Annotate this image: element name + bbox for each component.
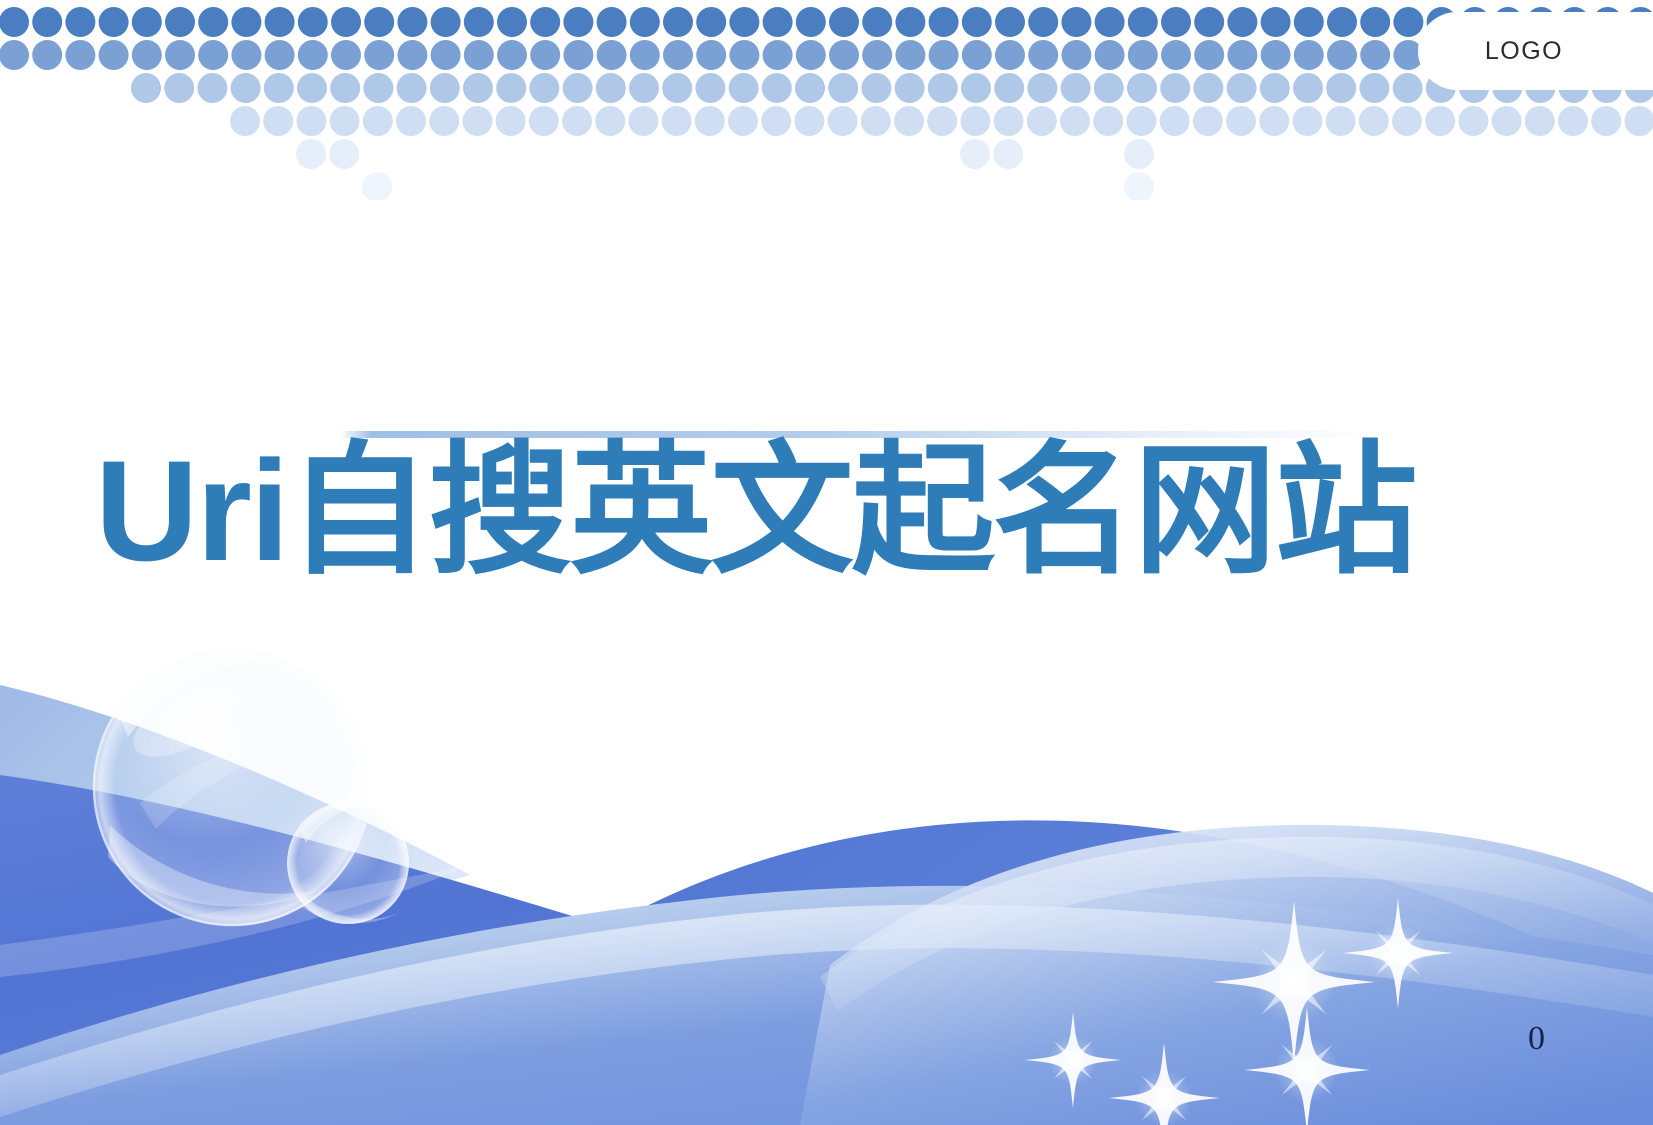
halftone-dot bbox=[763, 40, 793, 70]
halftone-dot bbox=[1292, 106, 1322, 136]
halftone-dot bbox=[164, 73, 194, 103]
halftone-dot bbox=[231, 7, 261, 37]
halftone-dot bbox=[363, 73, 393, 103]
halftone-dot bbox=[995, 40, 1025, 70]
halftone-dot bbox=[961, 73, 991, 103]
halftone-dot bbox=[1194, 40, 1224, 70]
halftone-dot bbox=[530, 7, 560, 37]
halftone-dot bbox=[729, 73, 759, 103]
halftone-dot bbox=[927, 106, 957, 136]
halftone-dot bbox=[628, 106, 658, 136]
halftone-dot bbox=[231, 73, 261, 103]
halftone-dot bbox=[1061, 73, 1091, 103]
halftone-dot bbox=[1061, 7, 1091, 37]
halftone-dot bbox=[1094, 73, 1124, 103]
halftone-dot bbox=[131, 73, 161, 103]
halftone-dot bbox=[795, 73, 825, 103]
halftone-dot bbox=[1425, 106, 1455, 136]
halftone-dot bbox=[331, 7, 361, 37]
halftone-dot bbox=[1124, 139, 1154, 169]
halftone-dot bbox=[431, 7, 461, 37]
halftone-dot bbox=[794, 106, 824, 136]
halftone-dot bbox=[32, 7, 62, 37]
halftone-dot bbox=[65, 7, 95, 37]
halftone-dot bbox=[1028, 7, 1058, 37]
halftone-dot bbox=[397, 7, 427, 37]
halftone-dot bbox=[828, 106, 858, 136]
halftone-dot bbox=[1359, 73, 1389, 103]
halftone-dot bbox=[596, 73, 626, 103]
halftone-dot bbox=[994, 106, 1024, 136]
halftone-dot bbox=[630, 7, 660, 37]
halftone-dot bbox=[762, 73, 792, 103]
halftone-dot bbox=[1492, 106, 1522, 136]
halftone-dot bbox=[197, 73, 227, 103]
halftone-dot bbox=[662, 73, 692, 103]
halftone-dot bbox=[1095, 40, 1125, 70]
halftone-dot bbox=[497, 7, 527, 37]
halftone-dot bbox=[729, 40, 759, 70]
halftone-dot bbox=[861, 73, 891, 103]
logo-plaque[interactable]: LOGO bbox=[1418, 12, 1653, 90]
halftone-dot bbox=[962, 40, 992, 70]
halftone-dot bbox=[198, 40, 228, 70]
halftone-dot bbox=[296, 106, 326, 136]
halftone-dot bbox=[462, 106, 492, 136]
halftone-dot bbox=[1327, 40, 1357, 70]
halftone-dot bbox=[960, 106, 990, 136]
halftone-dot bbox=[828, 73, 858, 103]
halftone-dot bbox=[763, 7, 793, 37]
halftone-dot bbox=[363, 106, 393, 136]
halftone-dot bbox=[1294, 40, 1324, 70]
halftone-dot bbox=[663, 40, 693, 70]
halftone-dot bbox=[1128, 40, 1158, 70]
halftone-dot bbox=[595, 106, 625, 136]
halftone-dot bbox=[1360, 7, 1390, 37]
page-title: Uri自搜英文起名网站 bbox=[95, 440, 1416, 583]
halftone-dot bbox=[597, 7, 627, 37]
halftone-dot bbox=[1393, 73, 1423, 103]
halftone-dot bbox=[1160, 106, 1190, 136]
logo-label: LOGO bbox=[1485, 37, 1591, 66]
halftone-dot bbox=[1326, 106, 1356, 136]
halftone-dot bbox=[796, 40, 826, 70]
halftone-dot bbox=[497, 40, 527, 70]
halftone-dot bbox=[429, 106, 459, 136]
halftone-dot bbox=[1095, 7, 1125, 37]
halftone-dot bbox=[629, 73, 659, 103]
halftone-dot bbox=[397, 40, 427, 70]
halftone-dot bbox=[929, 7, 959, 37]
halftone-dot bbox=[397, 73, 427, 103]
halftone-dot bbox=[729, 7, 759, 37]
page-number: 0 bbox=[1528, 1020, 1545, 1058]
halftone-dot bbox=[728, 106, 758, 136]
halftone-dot bbox=[696, 7, 726, 37]
halftone-dot bbox=[330, 73, 360, 103]
halftone-dot bbox=[862, 40, 892, 70]
halftone-dot bbox=[297, 73, 327, 103]
halftone-dot bbox=[597, 40, 627, 70]
halftone-dot bbox=[1060, 106, 1090, 136]
halftone-dot bbox=[1127, 73, 1157, 103]
halftone-dot bbox=[464, 7, 494, 37]
halftone-dot bbox=[662, 106, 692, 136]
halftone-dot bbox=[563, 73, 593, 103]
halftone-dot bbox=[1226, 106, 1256, 136]
halftone-dot bbox=[1126, 106, 1156, 136]
halftone-dot bbox=[298, 40, 328, 70]
halftone-dot bbox=[496, 73, 526, 103]
halftone-dot bbox=[396, 106, 426, 136]
halftone-dot bbox=[296, 139, 326, 169]
halftone-dot bbox=[1294, 7, 1324, 37]
halftone-dot bbox=[265, 40, 295, 70]
halftone-dot bbox=[231, 40, 261, 70]
halftone-dot bbox=[364, 40, 394, 70]
halftone-dot bbox=[1093, 106, 1123, 136]
halftone-dot bbox=[1227, 7, 1257, 37]
halftone-dot bbox=[1260, 73, 1290, 103]
halftone-dot-field bbox=[0, 0, 1653, 200]
halftone-dot bbox=[1028, 40, 1058, 70]
halftone-dot bbox=[562, 106, 592, 136]
halftone-dot bbox=[1227, 73, 1257, 103]
halftone-dot bbox=[960, 139, 990, 169]
halftone-dot bbox=[132, 40, 162, 70]
halftone-dot bbox=[430, 73, 460, 103]
halftone-dot bbox=[530, 40, 560, 70]
halftone-dot bbox=[1261, 7, 1291, 37]
halftone-dot bbox=[761, 106, 791, 136]
halftone-dot bbox=[1525, 106, 1555, 136]
halftone-dot bbox=[329, 139, 359, 169]
halftone-dot bbox=[563, 40, 593, 70]
halftone-dot bbox=[563, 7, 593, 37]
halftone-dot bbox=[331, 40, 361, 70]
halftone-dot bbox=[1124, 172, 1154, 200]
halftone-dot bbox=[663, 7, 693, 37]
halftone-dot bbox=[895, 7, 925, 37]
halftone-dot bbox=[895, 40, 925, 70]
halftone-dot bbox=[895, 73, 925, 103]
halftone-dot bbox=[99, 7, 129, 37]
halftone-dot bbox=[696, 40, 726, 70]
halftone-dot bbox=[962, 7, 992, 37]
wave-and-bubble-graphic bbox=[0, 625, 1653, 1125]
halftone-dot bbox=[529, 73, 559, 103]
halftone-dot bbox=[99, 40, 129, 70]
halftone-dot bbox=[861, 106, 891, 136]
halftone-dot bbox=[1194, 7, 1224, 37]
halftone-dot bbox=[1193, 73, 1223, 103]
halftone-dot bbox=[1027, 106, 1057, 136]
halftone-dot bbox=[1458, 106, 1488, 136]
halftone-dot bbox=[1160, 73, 1190, 103]
halftone-dot bbox=[165, 7, 195, 37]
halftone-dot bbox=[330, 106, 360, 136]
halftone-dot bbox=[1327, 7, 1357, 37]
halftone-dot bbox=[695, 73, 725, 103]
halftone-dot bbox=[1027, 73, 1057, 103]
halftone-dot bbox=[463, 73, 493, 103]
halftone-dot bbox=[265, 7, 295, 37]
halftone-dot bbox=[1558, 106, 1588, 136]
halftone-dot bbox=[1161, 7, 1191, 37]
halftone-dot bbox=[928, 73, 958, 103]
halftone-dot bbox=[993, 139, 1023, 169]
halftone-dot bbox=[1624, 106, 1653, 136]
halftone-dot bbox=[862, 7, 892, 37]
halftone-dot bbox=[362, 172, 392, 200]
halftone-dot bbox=[1128, 7, 1158, 37]
halftone-dot bbox=[630, 40, 660, 70]
halftone-dot bbox=[264, 73, 294, 103]
halftone-dot bbox=[464, 40, 494, 70]
halftone-dot bbox=[1359, 106, 1389, 136]
halftone-dot bbox=[695, 106, 725, 136]
halftone-dot bbox=[1293, 73, 1323, 103]
halftone-dot bbox=[1061, 40, 1091, 70]
halftone-dot bbox=[1161, 40, 1191, 70]
halftone-dot bbox=[0, 7, 29, 37]
halftone-dot bbox=[1261, 40, 1291, 70]
halftone-dot bbox=[198, 7, 228, 37]
halftone-dot bbox=[994, 73, 1024, 103]
halftone-dot bbox=[230, 106, 260, 136]
halftone-dot bbox=[431, 40, 461, 70]
halftone-dot bbox=[496, 106, 526, 136]
halftone-dot bbox=[1393, 7, 1423, 37]
halftone-dot bbox=[364, 7, 394, 37]
halftone-dot bbox=[995, 7, 1025, 37]
halftone-dot bbox=[894, 106, 924, 136]
halftone-dot bbox=[1591, 106, 1621, 136]
halftone-dot bbox=[1259, 106, 1289, 136]
halftone-dot bbox=[263, 106, 293, 136]
halftone-dot bbox=[829, 40, 859, 70]
halftone-dot bbox=[1392, 106, 1422, 136]
halftone-dot bbox=[0, 40, 29, 70]
halftone-dot bbox=[1326, 73, 1356, 103]
halftone-dot bbox=[32, 40, 62, 70]
halftone-dot bbox=[929, 40, 959, 70]
slide-canvas: LOGO bbox=[0, 0, 1653, 1125]
halftone-dot bbox=[1360, 40, 1390, 70]
halftone-dot bbox=[65, 40, 95, 70]
halftone-dot bbox=[1227, 40, 1257, 70]
halftone-dot bbox=[529, 106, 559, 136]
halftone-dot bbox=[829, 7, 859, 37]
halftone-dot bbox=[796, 7, 826, 37]
halftone-dot bbox=[165, 40, 195, 70]
halftone-dot bbox=[132, 7, 162, 37]
halftone-dot bbox=[1193, 106, 1223, 136]
halftone-dot bbox=[298, 7, 328, 37]
